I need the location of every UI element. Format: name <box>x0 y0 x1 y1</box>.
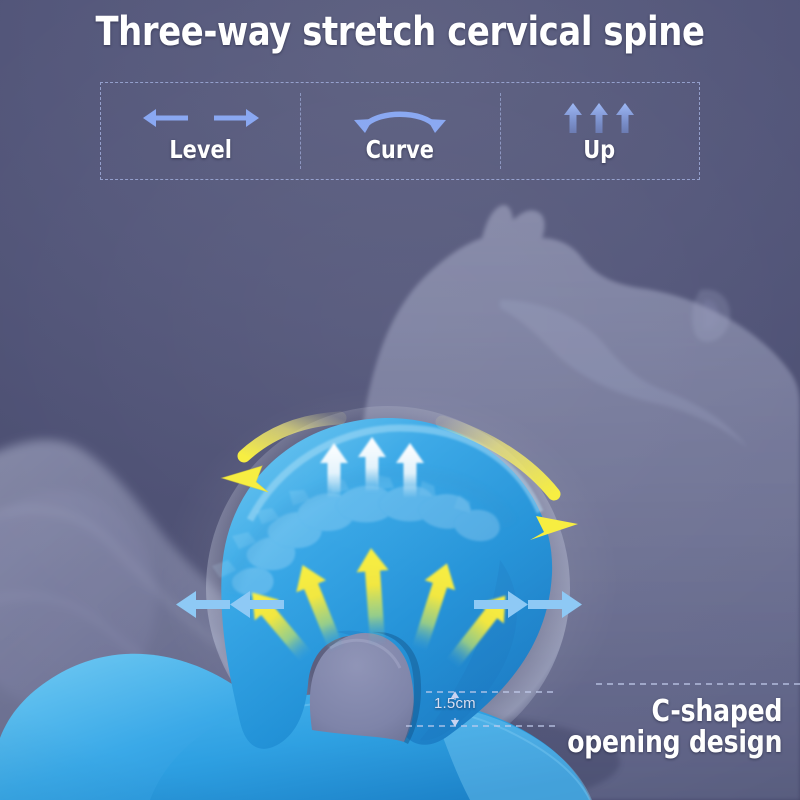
measurement-label: 1.5cm <box>434 695 476 712</box>
white-up-arrows <box>320 437 424 498</box>
caption-line-2: opening design <box>567 727 782 758</box>
caption-line-1: C-shaped <box>567 696 782 727</box>
pillow-illustration <box>0 0 800 800</box>
product-infographic: Three-way stretch cervical spine Level <box>0 0 800 800</box>
c-shaped-caption: C-shaped opening design <box>567 696 782 758</box>
